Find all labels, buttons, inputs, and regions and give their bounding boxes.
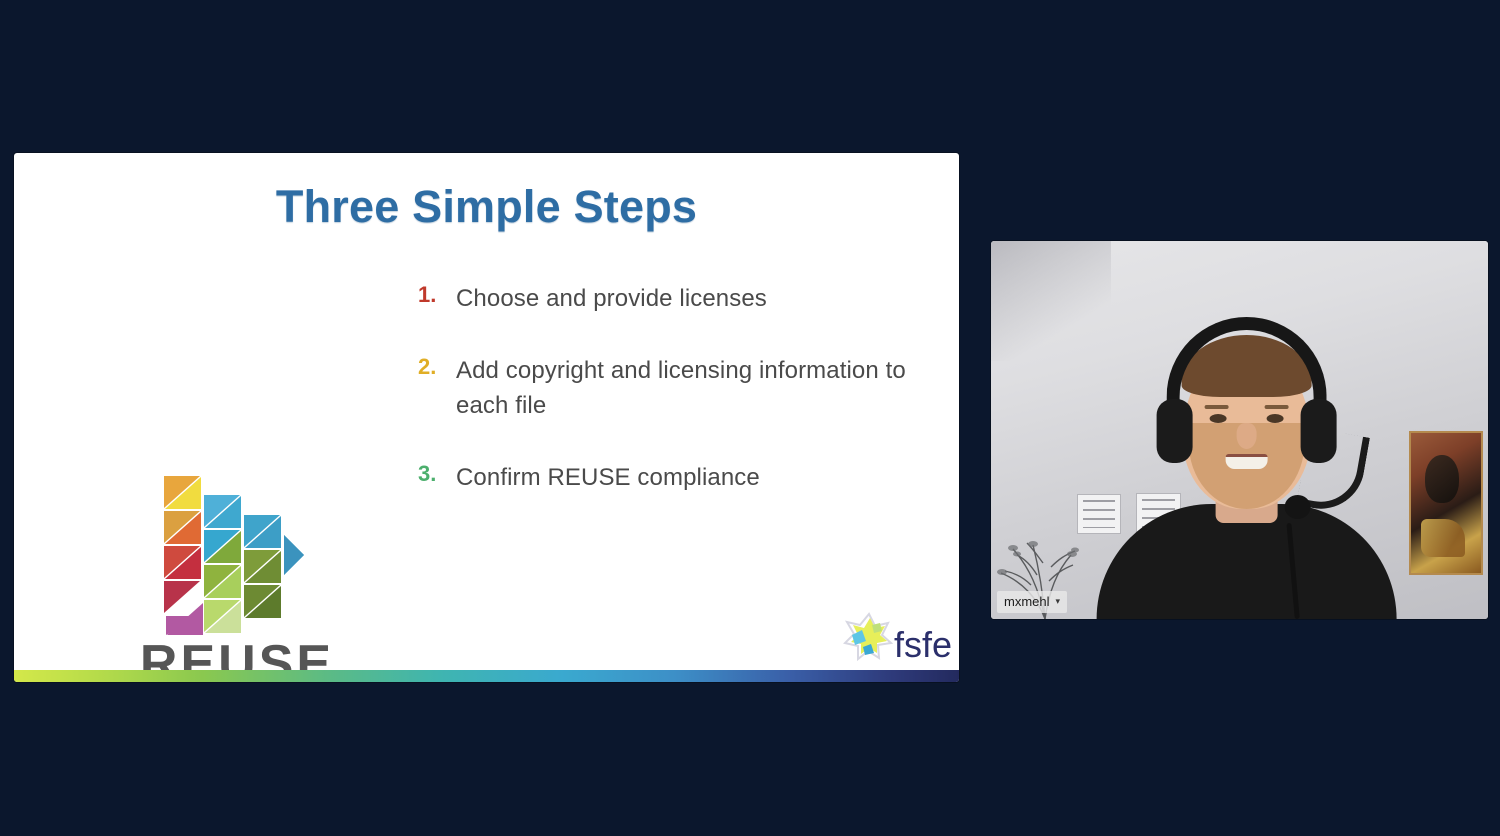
- participant-name-label: mxmehl: [1004, 594, 1050, 609]
- person-nose: [1236, 423, 1256, 449]
- step-text: Add copyright and licensing information …: [456, 353, 948, 423]
- fsfe-star-icon: [845, 614, 891, 659]
- steps-list: 1. Choose and provide licenses 2. Add co…: [418, 281, 948, 532]
- step-number: 2.: [418, 353, 456, 381]
- step-number: 3.: [418, 460, 456, 488]
- artwork-accent: [1421, 519, 1465, 557]
- fsfe-logo: fsfe: [839, 610, 959, 672]
- person-eye-right: [1266, 414, 1283, 423]
- step-number: 1.: [418, 281, 456, 309]
- person-mouth: [1225, 454, 1267, 469]
- person-eyebrow-right: [1264, 405, 1288, 409]
- page-title: Three Simple Steps: [14, 181, 959, 233]
- video-participant: [1081, 289, 1411, 619]
- chevron-down-icon[interactable]: ▾: [1056, 597, 1061, 606]
- wall-artwork: [1409, 431, 1483, 575]
- headset-earcup-left: [1156, 399, 1192, 463]
- person-eye-left: [1209, 414, 1226, 423]
- step-text: Choose and provide licenses: [456, 281, 767, 316]
- list-item: 2. Add copyright and licensing informati…: [418, 353, 948, 423]
- list-item: 3. Confirm REUSE compliance: [418, 460, 948, 495]
- slide-gradient-bar: [14, 670, 959, 682]
- list-item: 1. Choose and provide licenses: [418, 281, 948, 316]
- fsfe-wordmark: fsfe: [894, 624, 952, 665]
- headset-headband: [1166, 317, 1326, 403]
- artwork-figure: [1425, 455, 1459, 503]
- headset-mic-tip: [1284, 495, 1310, 519]
- person-eyebrow-left: [1204, 405, 1228, 409]
- presentation-slide[interactable]: Three Simple Steps: [14, 153, 959, 682]
- step-text: Confirm REUSE compliance: [456, 460, 760, 495]
- reuse-triangle-mosaic-icon: [160, 473, 305, 638]
- participant-name-badge[interactable]: mxmehl ▾: [997, 591, 1067, 613]
- video-tile[interactable]: mxmehl ▾: [991, 241, 1488, 619]
